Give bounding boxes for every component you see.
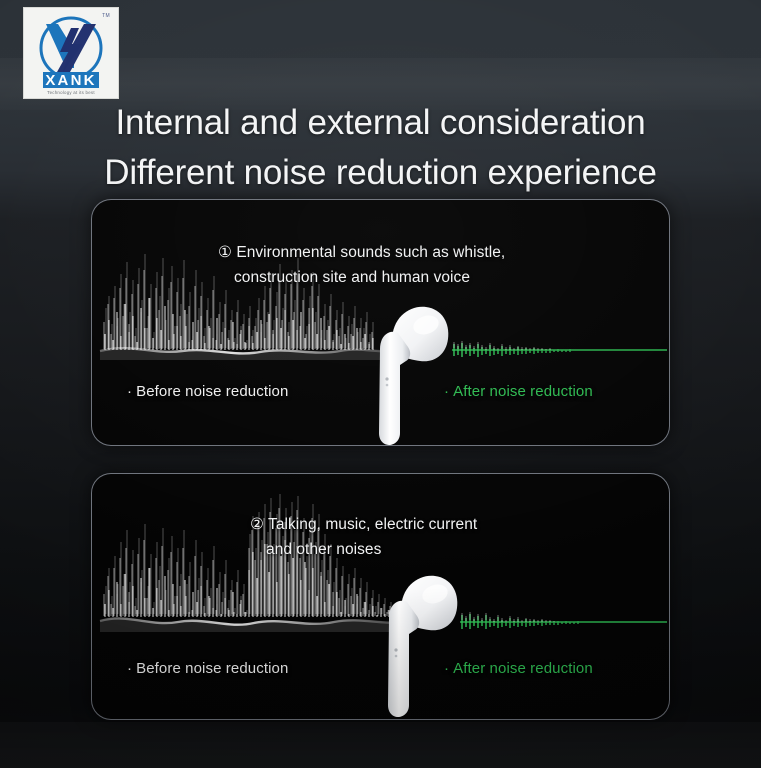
logo-artwork: TM XANK Technology at its best (27, 10, 115, 96)
panel-note-line-1: Environmental sounds such as whistle, (236, 244, 505, 261)
panel-note-line-2: construction site and human voice (218, 265, 505, 290)
before-bullet-icon-2: · (127, 660, 132, 677)
comparison-panel-1: ① Environmental sounds such as whistle, … (91, 199, 670, 446)
panel-marker-2: ② (250, 516, 264, 533)
wireless-earbud-icon (364, 301, 456, 446)
svg-text:XANK: XANK (45, 72, 96, 89)
after-bullet-icon-1: · (444, 383, 449, 400)
after-label-text-2: After noise reduction (453, 660, 593, 677)
panel-note-1: ① Environmental sounds such as whistle, … (218, 240, 505, 290)
headline-line-2: Different noise reduction experience (0, 148, 761, 198)
promo-page: TM XANK Technology at its best Internal … (0, 0, 761, 768)
trademark-label: TM (102, 13, 110, 19)
clean-wave-2 (460, 612, 667, 629)
clean-wave-1 (452, 341, 667, 357)
before-label-2: ·Before noise reduction (127, 660, 288, 677)
after-bullet-icon-2: · (444, 660, 449, 677)
headline-line-1: Internal and external consideration (115, 103, 645, 142)
before-bullet-icon-1: · (127, 383, 132, 400)
page-title: Internal and external consideration Diff… (0, 98, 761, 198)
after-label-text-1: After noise reduction (453, 383, 593, 400)
earbud-image-2 (373, 570, 465, 718)
panel-marker-1: ① (218, 244, 232, 261)
panel-note-line-1: Talking, music, electric current (268, 516, 477, 533)
xank-logo-icon: XANK (27, 10, 115, 96)
panel-note-2: ② Talking, music, electric current and o… (250, 512, 477, 562)
after-label-2: ·After noise reduction (444, 660, 593, 677)
panel-note-line-2: and other noises (250, 537, 477, 562)
brand-logo: TM XANK Technology at its best (23, 7, 119, 99)
logo-tagline: Technology at its best (27, 90, 115, 95)
wireless-earbud-icon (373, 570, 465, 718)
before-label-text-2: Before noise reduction (136, 660, 288, 677)
before-label-text-1: Before noise reduction (136, 383, 288, 400)
before-label-1: ·Before noise reduction (127, 383, 288, 400)
after-label-1: ·After noise reduction (444, 383, 593, 400)
earbud-image-1 (364, 301, 456, 446)
comparison-panel-2: ② Talking, music, electric current and o… (91, 473, 670, 720)
